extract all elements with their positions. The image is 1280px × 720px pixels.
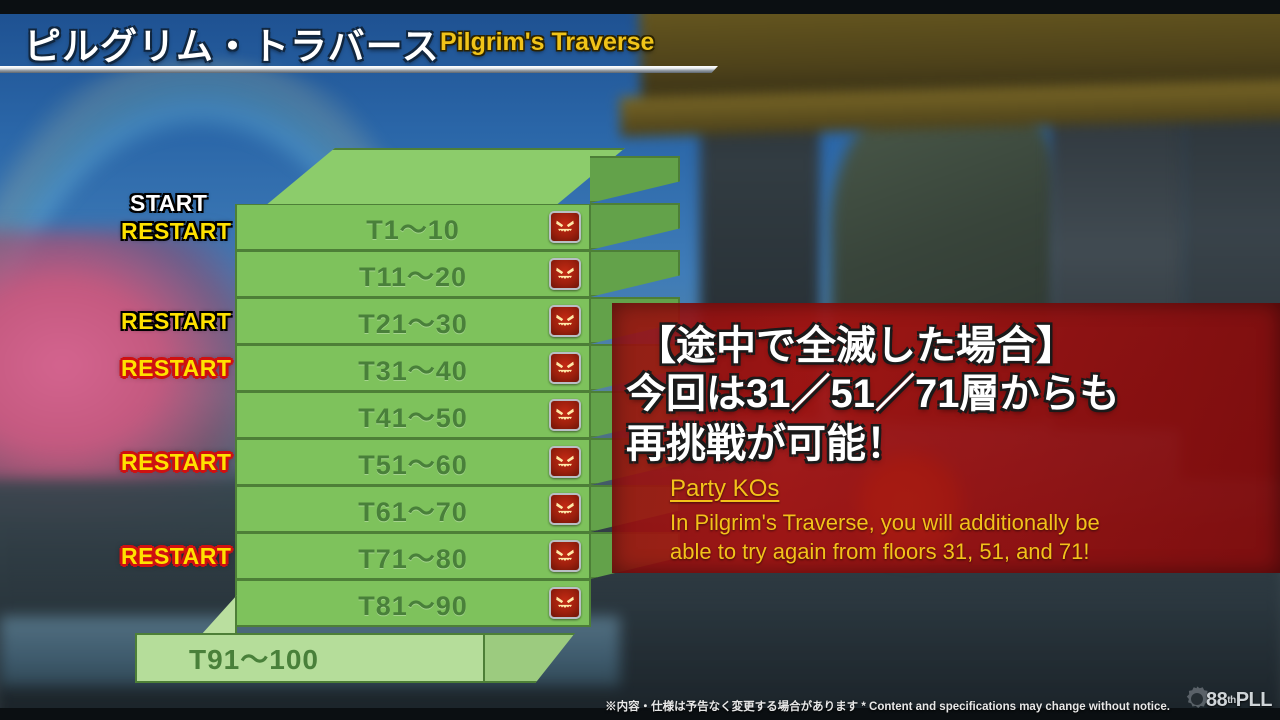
floor-label: T61〜70	[358, 490, 468, 529]
page-title-en: Pilgrim's Traverse	[440, 28, 654, 57]
floor-row[interactable]: T11〜20	[235, 251, 591, 298]
tower-side-slab	[590, 250, 680, 297]
boss-icon	[549, 305, 581, 337]
restart-tag: RESTART	[121, 355, 231, 382]
floor-label: T41〜50	[358, 396, 468, 435]
base-side-face	[483, 633, 575, 683]
watermark-text: 88thPLL	[1176, 685, 1272, 715]
floor-row[interactable]: T61〜70	[235, 486, 591, 533]
restart-tag: RESTART	[121, 543, 231, 570]
floor-row[interactable]: T71〜80	[235, 533, 591, 580]
boss-icon	[549, 258, 581, 290]
floor-label: T71〜80	[358, 537, 468, 576]
boss-icon	[549, 587, 581, 619]
floor-row[interactable]: T1〜10	[235, 204, 591, 251]
boss-icon	[549, 399, 581, 431]
callout-jp-line-3: 再挑戦が可能！	[626, 411, 906, 469]
boss-icon	[549, 352, 581, 384]
boss-icon	[549, 211, 581, 243]
boss-icon	[549, 446, 581, 478]
page-title-jp: ピルグリム・トラバース	[24, 16, 440, 70]
callout-en-heading: Party KOs	[670, 475, 779, 503]
watermark-number: 88	[1206, 689, 1227, 712]
restart-tag: RESTART	[121, 218, 231, 245]
restart-tag: RESTART	[121, 308, 231, 335]
floor-label: T1〜10	[366, 208, 460, 247]
party-ko-callout: 【途中で全滅した場合】 今回は31／51／71層からも 再挑戦が可能！ Part…	[612, 303, 1280, 573]
watermark-suffix: PLL	[1236, 689, 1272, 712]
slide-root: ピルグリム・トラバース Pilgrim's Traverse T1〜10T11〜…	[0, 0, 1280, 720]
floor-list: T1〜10T11〜20T21〜30T31〜40T41〜50T51〜60T61〜7…	[235, 204, 591, 627]
floor-label: T81〜90	[358, 584, 468, 623]
floor-row[interactable]: T21〜30	[235, 298, 591, 345]
tower-side-slab	[590, 156, 680, 203]
floor-label: T31〜40	[358, 349, 468, 388]
watermark-sup: th	[1227, 695, 1235, 706]
boss-icon	[549, 493, 581, 525]
boss-icon	[549, 540, 581, 572]
tower-top-face	[235, 148, 625, 206]
start-tag: START	[130, 190, 207, 217]
floor-row[interactable]: T31〜40	[235, 345, 591, 392]
tower-side-slab	[590, 203, 680, 250]
restart-tag-list: STARTRESTARTRESTARTRESTARTRESTARTRESTART	[0, 148, 240, 693]
restart-tag: RESTART	[121, 449, 231, 476]
floor-row[interactable]: T81〜90	[235, 580, 591, 627]
slide-header: ピルグリム・トラバース Pilgrim's Traverse	[0, 0, 1280, 80]
header-divider	[0, 66, 718, 73]
floor-label: T11〜20	[359, 255, 467, 294]
floor-row[interactable]: T41〜50	[235, 392, 591, 439]
watermark: 88thPLL	[1176, 685, 1272, 715]
floor-row[interactable]: T51〜60	[235, 439, 591, 486]
callout-en-body: In Pilgrim's Traverse, you will addition…	[670, 508, 1100, 566]
slide-footer: ※内容・仕様は予告なく変更する場合があります * Content and spe…	[0, 694, 1280, 716]
floor-label: T21〜30	[358, 302, 468, 341]
floor-label: T51〜60	[358, 443, 468, 482]
footer-notice: ※内容・仕様は予告なく変更する場合があります * Content and spe…	[605, 698, 1170, 714]
